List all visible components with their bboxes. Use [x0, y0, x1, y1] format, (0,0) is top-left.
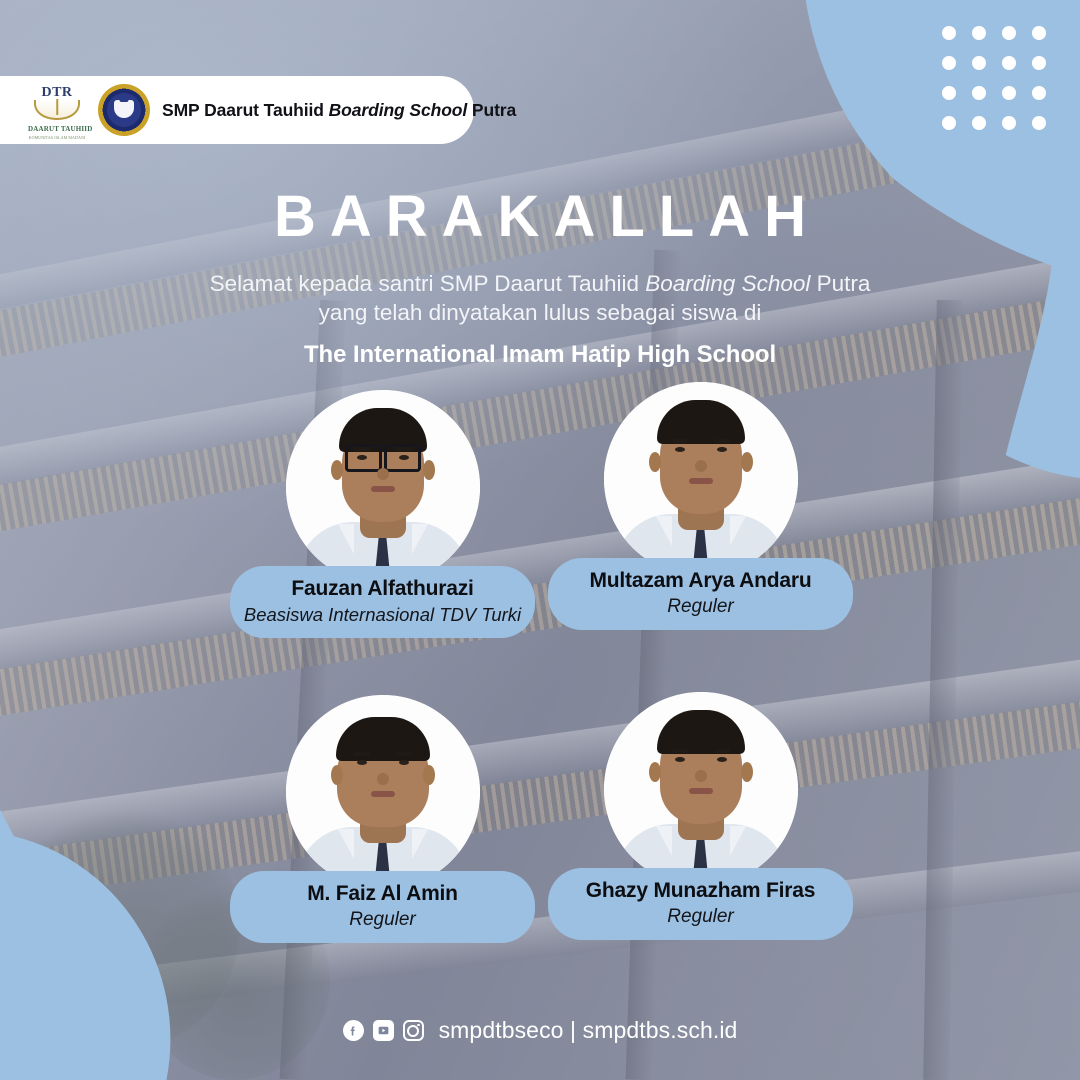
- instagram-icon[interactable]: [403, 1020, 424, 1041]
- student-program: Reguler: [562, 906, 839, 928]
- youtube-icon[interactable]: [373, 1020, 394, 1041]
- social-handle: smpdtbseco | smpdtbs.sch.id: [439, 1017, 738, 1044]
- student-nameplate: Multazam Arya Andaru Reguler: [548, 558, 853, 630]
- header-title-part2: Putra: [467, 100, 516, 120]
- dot: [1032, 86, 1046, 100]
- dot: [942, 116, 956, 130]
- student-program: Reguler: [244, 909, 521, 931]
- dtr-logo-tagline: KOMUNITAS ISLAM MADANI: [28, 135, 86, 140]
- dot: [972, 86, 986, 100]
- congrats-line1-italic: Boarding School: [645, 271, 810, 296]
- dot: [1032, 116, 1046, 130]
- student-nameplate: Fauzan Alfathurazi Beasiswa Internasiona…: [230, 566, 535, 638]
- students-row-2: M. Faiz Al Amin Reguler Ghazy Munazham F…: [0, 695, 1080, 1000]
- header-title: SMP Daarut Tauhiid Boarding School Putra: [162, 100, 516, 121]
- header-title-part1: SMP Daarut Tauhiid: [162, 100, 329, 120]
- student-avatar: [286, 390, 480, 584]
- hero-section: BARAKALLAH Selamat kepada santri SMP Daa…: [0, 188, 1080, 369]
- destination-school-name: The International Imam Hatip High School: [0, 341, 1080, 369]
- student-name: Ghazy Munazham Firas: [562, 879, 839, 903]
- daarut-tauhiid-logo-icon: DTR DAARUT TAUHIID KOMUNITAS ISLAM MADAN…: [28, 84, 86, 136]
- school-seal-icon: [98, 84, 150, 136]
- congratulation-text: Selamat kepada santri SMP Daarut Tauhiid…: [0, 270, 1080, 328]
- footer-bar: smpdtbseco | smpdtbs.sch.id: [0, 1017, 1080, 1044]
- student-card[interactable]: Fauzan Alfathurazi Beasiswa Internasiona…: [230, 390, 535, 638]
- dot: [1002, 86, 1016, 100]
- dot: [1032, 56, 1046, 70]
- header-banner: DTR DAARUT TAUHIID KOMUNITAS ISLAM MADAN…: [0, 76, 474, 144]
- students-grid: Fauzan Alfathurazi Beasiswa Internasiona…: [0, 390, 1080, 1000]
- student-program: Beasiswa Internasional TDV Turki: [236, 604, 529, 625]
- student-name: Multazam Arya Andaru: [562, 569, 839, 593]
- student-card[interactable]: M. Faiz Al Amin Reguler: [230, 695, 535, 943]
- dot: [1002, 116, 1016, 130]
- dot: [942, 26, 956, 40]
- dot: [942, 86, 956, 100]
- dot: [1002, 56, 1016, 70]
- poster-canvas: DTR DAARUT TAUHIID KOMUNITAS ISLAM MADAN…: [0, 0, 1080, 1080]
- student-avatar: [604, 382, 798, 576]
- dot: [1032, 26, 1046, 40]
- student-name: M. Faiz Al Amin: [244, 882, 521, 906]
- student-name: Fauzan Alfathurazi: [236, 577, 529, 601]
- congrats-line1-b: Putra: [810, 271, 870, 296]
- student-avatar: [604, 692, 798, 886]
- headline: BARAKALLAH: [0, 188, 1080, 246]
- dot: [942, 56, 956, 70]
- students-row-1: Fauzan Alfathurazi Beasiswa Internasiona…: [0, 390, 1080, 695]
- student-program: Reguler: [562, 596, 839, 618]
- student-card[interactable]: Ghazy Munazham Firas Reguler: [548, 692, 853, 940]
- dot: [972, 26, 986, 40]
- student-avatar: [286, 695, 480, 889]
- congrats-line1-a: Selamat kepada santri SMP Daarut Tauhiid: [210, 271, 646, 296]
- decor-dot-grid: [942, 26, 1046, 130]
- congrats-line2: yang telah dinyatakan lulus sebagai sisw…: [319, 300, 762, 325]
- congrats-line1: Selamat kepada santri SMP Daarut Tauhiid…: [210, 271, 871, 296]
- eyeglasses-icon: [345, 444, 421, 468]
- student-nameplate: Ghazy Munazham Firas Reguler: [548, 868, 853, 940]
- dot: [972, 116, 986, 130]
- dot: [972, 56, 986, 70]
- open-book-icon: [34, 100, 80, 120]
- dot: [1002, 26, 1016, 40]
- dtr-logo-name: DAARUT TAUHIID: [28, 125, 86, 133]
- student-card[interactable]: Multazam Arya Andaru Reguler: [548, 382, 853, 630]
- facebook-icon[interactable]: [343, 1020, 364, 1041]
- header-title-italic: Boarding School: [329, 100, 468, 120]
- student-nameplate: M. Faiz Al Amin Reguler: [230, 871, 535, 943]
